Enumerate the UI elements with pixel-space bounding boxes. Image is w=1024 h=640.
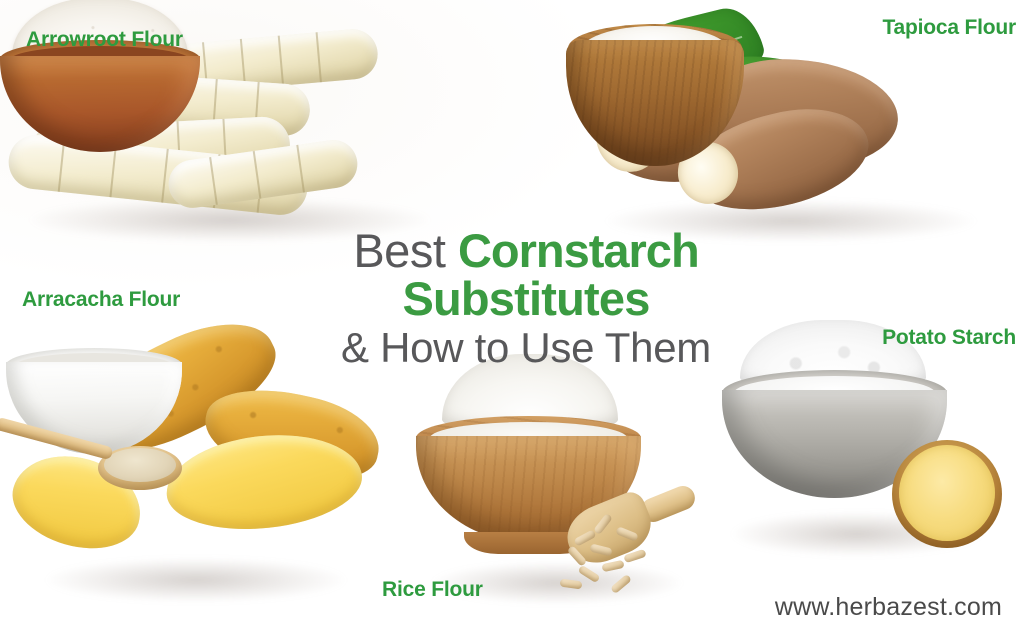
label-arrowroot-flour: Arrowroot Flour xyxy=(26,28,183,52)
poster-title: Best Cornstarch Substitutes & How to Use… xyxy=(330,228,722,368)
rice-grain xyxy=(560,579,583,590)
title-line-3: & How to Use Them xyxy=(330,327,722,368)
infographic-poster: Arrowroot Flour Tapioca Flour Arracacha … xyxy=(0,0,1024,640)
rice-grain xyxy=(610,574,632,594)
title-line-2: Substitutes xyxy=(330,276,722,322)
spoon-flour xyxy=(104,448,176,482)
arracacha-photo xyxy=(6,340,386,605)
rice-grain xyxy=(578,565,601,583)
tapioca-photo xyxy=(566,18,1016,243)
title-line-1-plain: Best xyxy=(353,224,458,277)
arracacha-shadow xyxy=(46,558,346,602)
spoon-handle xyxy=(0,417,114,461)
arrowroot-photo xyxy=(0,30,470,240)
title-line-1-accent: Cornstarch xyxy=(458,224,699,277)
potato-flesh xyxy=(899,445,995,541)
halved-potato xyxy=(892,440,1002,548)
website-url: www.herbazest.com xyxy=(775,593,1002,622)
rice-grain xyxy=(601,560,624,572)
rice-scoop xyxy=(558,490,698,600)
label-tapioca-flour: Tapioca Flour xyxy=(882,16,1016,40)
label-rice-flour: Rice Flour xyxy=(382,578,483,602)
wooden-spoon xyxy=(0,422,184,484)
label-arracacha-flour: Arracacha Flour xyxy=(22,288,180,312)
potato-photo xyxy=(722,352,1002,567)
label-potato-starch: Potato Starch xyxy=(882,326,1016,350)
title-line-1: Best Cornstarch xyxy=(330,228,722,274)
